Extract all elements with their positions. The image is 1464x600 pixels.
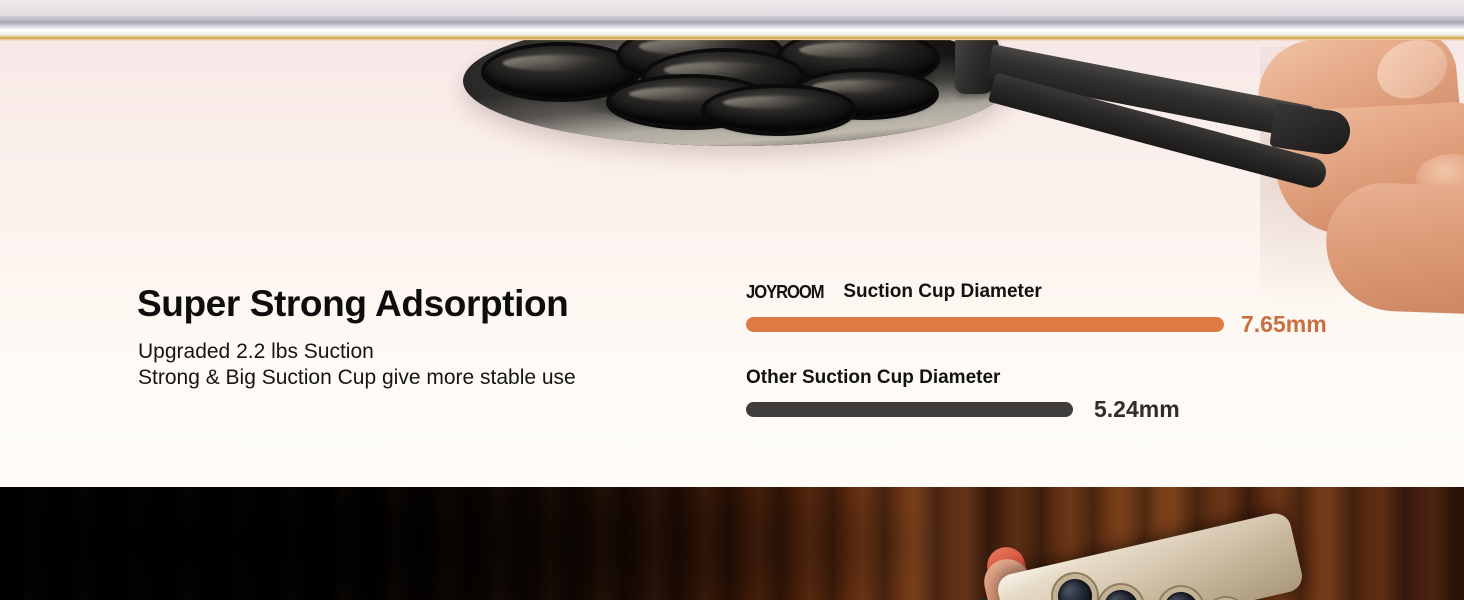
suction-cup-diameter-chart: JOYROOM Suction Cup Diameter 7.65mm Othe… [746,281,1366,423]
chart-value-joyroom: 7.65mm [1241,311,1327,338]
chart-bar-line-other: 5.24mm [746,396,1366,423]
chart-bar-line-joyroom: 7.65mm [746,311,1366,338]
hero-subtext: Upgraded 2.2 lbs Suction Strong & Big Su… [138,340,576,392]
chart-label-text: Other Suction Cup Diameter [746,367,1000,389]
chart-row-joyroom: JOYROOM Suction Cup Diameter 7.65mm [746,281,1366,338]
hero-subtext-line-1: Upgraded 2.2 lbs Suction [138,340,576,365]
suction-cup [485,46,637,98]
fingernail [1368,29,1456,109]
chart-row-other: Other Suction Cup Diameter 5.24mm [746,367,1366,423]
product-banner: Super Strong Adsorption Upgraded 2.2 lbs… [0,0,1464,600]
page-title: Super Strong Adsorption [137,283,568,325]
hero-subtext-line-2: Strong & Big Suction Cup give more stabl… [138,366,576,391]
glass-surface-above-rail [0,0,1464,17]
chart-bar-other [746,402,1073,417]
glass-rail [0,16,1464,40]
glass-rail-gold-glow [0,38,1464,41]
chart-row-other-label: Other Suction Cup Diameter [746,367,1366,389]
chart-bar-joyroom [746,317,1224,332]
chart-value-other: 5.24mm [1094,396,1180,423]
joyroom-logo: JOYROOM [746,282,824,303]
suction-cup [705,88,853,132]
chart-label-text: Suction Cup Diameter [843,281,1041,303]
bottom-photo-strip [0,487,1464,600]
chart-row-joyroom-label: JOYROOM Suction Cup Diameter [746,281,1366,303]
hero-section: Super Strong Adsorption Upgraded 2.2 lbs… [0,0,1464,487]
